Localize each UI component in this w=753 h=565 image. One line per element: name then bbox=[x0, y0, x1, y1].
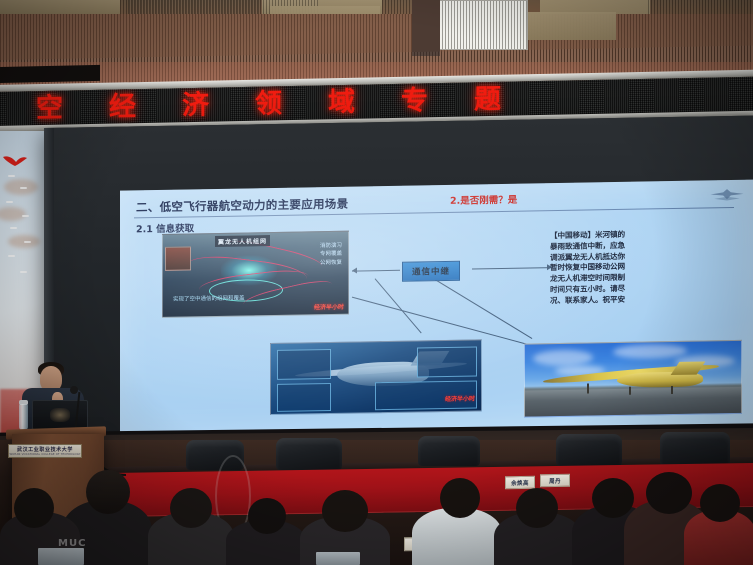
audience-head bbox=[248, 498, 286, 534]
microphone-head bbox=[70, 386, 78, 394]
placard-name: 周丹 bbox=[549, 476, 561, 484]
audience-head bbox=[440, 478, 480, 518]
chair bbox=[276, 438, 342, 470]
audience-head bbox=[516, 488, 558, 528]
audience-head bbox=[322, 490, 368, 532]
audience-head bbox=[592, 478, 634, 518]
audience-head bbox=[170, 488, 212, 528]
relay-node-box: 通信中继 bbox=[402, 261, 460, 282]
red-bird-icon bbox=[2, 153, 28, 171]
led-char-6: 题 bbox=[474, 85, 501, 113]
conference-photo-scene: 空经济领域专题 二、低空飞行器航空动力的主要应用场景 2.是否刚需？是 bbox=[0, 0, 753, 565]
audience-laptop bbox=[316, 552, 360, 565]
audience-head bbox=[646, 472, 692, 514]
audience-head bbox=[700, 484, 740, 522]
audience-head bbox=[86, 470, 130, 514]
news-channel-watermark: 经济半小时 bbox=[314, 302, 344, 312]
led-char-1: 经 bbox=[109, 93, 136, 121]
uav-runway-photo bbox=[524, 340, 742, 418]
connector-line-lower-right bbox=[432, 277, 533, 339]
chair bbox=[556, 434, 622, 466]
news-overlay-text: 实现了空中通信的组网和覆盖 bbox=[173, 294, 245, 303]
led-char-4: 域 bbox=[328, 88, 355, 116]
arrow-head-left bbox=[352, 268, 357, 274]
led-char-0: 空 bbox=[36, 94, 63, 122]
presentation-slide: 二、低空飞行器航空动力的主要应用场景 2.是否刚需？是 2.1 信息获取 翼龙无… bbox=[120, 180, 753, 437]
plaque-chinese-name: 武汉工业职业技术大学 bbox=[17, 446, 73, 453]
connector-line-left bbox=[352, 270, 400, 272]
led-char-5: 专 bbox=[401, 87, 428, 115]
audience-laptop bbox=[38, 548, 84, 565]
uav-payload-diagram-image: 经济半小时 bbox=[270, 339, 482, 415]
connector-line-right bbox=[472, 267, 552, 269]
news-reporter-inset bbox=[165, 246, 191, 270]
chair bbox=[418, 436, 480, 466]
water-bottle bbox=[19, 404, 28, 430]
audience-shirt-text: MUC bbox=[58, 538, 86, 549]
podium-name-plaque: 武汉工业职业技术大学 WUHAN VOCATIONAL COLLEGE OF T… bbox=[8, 444, 82, 458]
slide-title-highlight: 2.是否刚需？是 bbox=[450, 192, 517, 207]
slide-title: 二、低空飞行器航空动力的主要应用场景 bbox=[136, 196, 348, 216]
led-char-3: 领 bbox=[255, 90, 282, 118]
wall-vent-grille bbox=[438, 0, 528, 50]
name-placard: 余焕高 bbox=[505, 476, 535, 490]
chair bbox=[660, 432, 730, 466]
news-screenshot-image: 翼龙无人机组网 消防演习 专网覆盖 公网恢复 实现了空中通信的组网和覆盖 经济半… bbox=[162, 231, 349, 318]
plaque-english-name: WUHAN VOCATIONAL COLLEGE OF TECHNOLOGY bbox=[9, 453, 80, 456]
news-caption: 翼龙无人机组网 bbox=[215, 235, 270, 247]
led-char-2: 济 bbox=[182, 91, 209, 119]
placard-name: 余焕高 bbox=[511, 478, 529, 486]
projection-screen: 二、低空飞行器航空动力的主要应用场景 2.是否刚需？是 2.1 信息获取 翼龙无… bbox=[44, 116, 753, 446]
podium-laptop bbox=[32, 400, 88, 430]
laptop-emblem-icon bbox=[50, 408, 70, 422]
uav-channel-watermark: 经济半小时 bbox=[445, 393, 475, 403]
audience-head bbox=[14, 488, 54, 528]
news-side-labels: 消防演习 专网覆盖 公网恢复 bbox=[320, 242, 342, 267]
sms-message-text: 【中国移动】米河镇的暴雨致通信中断，应急调派翼龙无人机抵达你暂时恢复中国移动公网… bbox=[550, 228, 750, 307]
winged-emblem-icon bbox=[708, 186, 746, 207]
name-placard: 周丹 bbox=[540, 474, 570, 488]
